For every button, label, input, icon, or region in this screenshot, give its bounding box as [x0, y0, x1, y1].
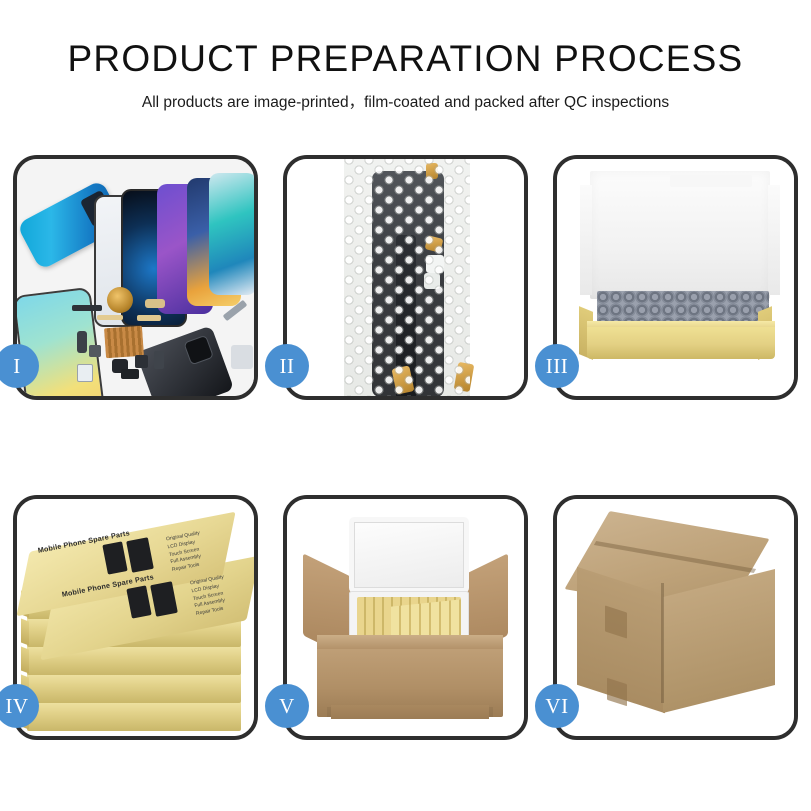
tool-tweezers	[231, 345, 253, 369]
step-2-image	[287, 159, 524, 396]
white-box-lid	[590, 171, 770, 299]
lid-tab	[670, 175, 752, 187]
flex-cable-part	[72, 305, 102, 311]
bubble-wrap-bag	[344, 159, 470, 396]
step-panel-2: II	[283, 155, 528, 400]
bubble-texture	[344, 159, 470, 396]
carton-bottom-edge	[331, 705, 489, 719]
stacked-box-5	[27, 673, 241, 703]
page-subtitle: All products are image-printed，film-coat…	[0, 90, 811, 112]
button-part	[89, 345, 101, 357]
carton-corner-shadow	[661, 583, 664, 703]
step-panel-3: III	[553, 155, 798, 400]
step-panel-4: Mobile Phone Spare Parts Mobile Phone Sp…	[13, 495, 258, 740]
step-panel-5: V	[283, 495, 528, 740]
step-badge-5: V	[265, 684, 309, 728]
small-module-part	[77, 331, 87, 353]
step-badge-2: II	[265, 344, 309, 388]
step-panel-6: VI	[553, 495, 798, 740]
ic-chip-part	[135, 355, 148, 368]
vibrator-part	[154, 351, 164, 369]
product-preparation-infographic: PRODUCT PREPARATION PROCESS All products…	[0, 0, 811, 811]
step-1-image	[17, 159, 254, 396]
header: PRODUCT PREPARATION PROCESS All products…	[0, 0, 811, 112]
step-5-image	[287, 499, 524, 736]
step-badge-3: III	[535, 344, 579, 388]
process-steps-grid: I II	[13, 155, 798, 740]
step-4-image: Mobile Phone Spare Parts Mobile Phone Sp…	[17, 499, 254, 736]
gold-antenna-part	[97, 315, 123, 320]
step-6-image	[557, 499, 794, 736]
box-spec-list-upper: Original Quality LCD Display Touch Scree…	[166, 530, 207, 575]
step-badge-6: VI	[535, 684, 579, 728]
box-spec-list-lower: Original Quality LCD Display Touch Scree…	[190, 574, 231, 619]
gold-flex-part	[137, 315, 161, 321]
phone-back-housing	[136, 325, 234, 396]
step-3-image	[557, 159, 794, 396]
gold-connector-part	[145, 299, 165, 308]
box-stack: Mobile Phone Spare Parts Mobile Phone Sp…	[21, 515, 254, 735]
stacked-box-6	[27, 701, 241, 731]
phone-screen-teal	[209, 173, 254, 295]
foam-box-lid	[349, 517, 469, 593]
step-panel-1: I	[13, 155, 258, 400]
white-tray-part	[77, 364, 93, 382]
yellow-box-front	[587, 327, 775, 359]
chip-board-part	[104, 326, 144, 359]
page-title: PRODUCT PREPARATION PROCESS	[0, 40, 811, 79]
speaker-coil-part	[107, 287, 133, 313]
sim-tray-part	[121, 369, 139, 379]
